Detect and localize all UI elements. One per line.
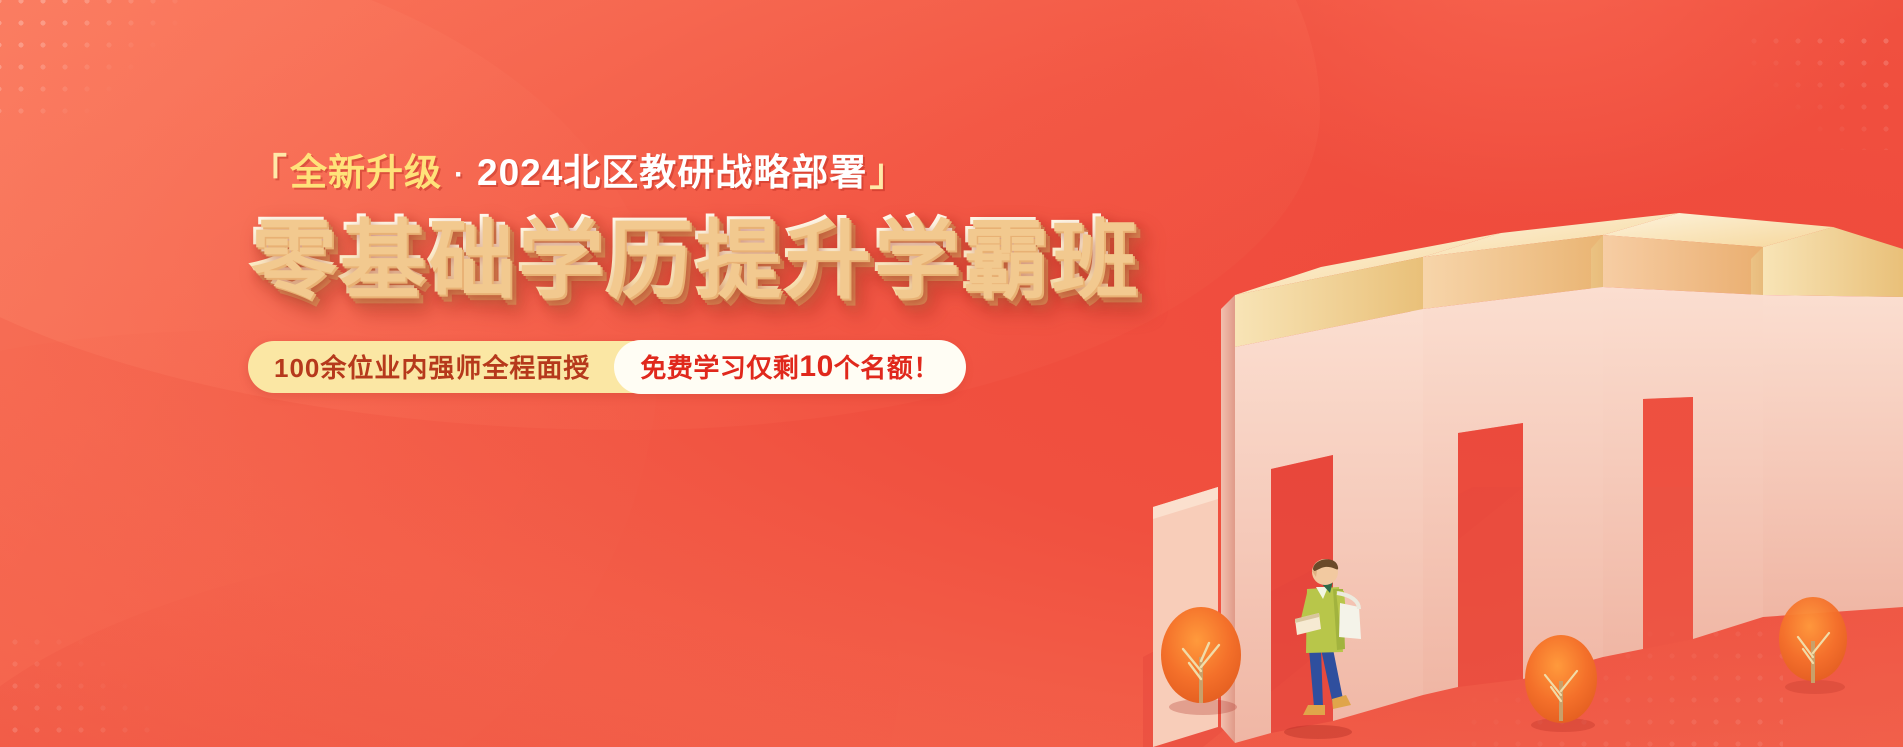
badge-quota-number: 10 — [799, 350, 833, 384]
dot-pattern-top-left — [0, 0, 178, 122]
badge-quota-suffix: 个名额！ — [834, 348, 940, 385]
dot-pattern-top-right — [1743, 30, 1903, 150]
book-archway-illustration — [1003, 187, 1903, 747]
banner-subtitle: 「全新升级·2024北区教研战略部署」 — [248, 150, 1108, 196]
subtitle-highlight: 全新升级 — [290, 152, 442, 193]
banner-copy: 「全新升级·2024北区教研战略部署」 零基础学历提升学霸班 100余位业内强师… — [248, 150, 1108, 393]
subtitle-close-bracket: 」 — [869, 152, 907, 193]
badge-teachers-label: 100余位业内强师全程面授 — [274, 341, 614, 393]
banner-badge-row: 100余位业内强师全程面授 免费学习仅剩10个名额！ — [248, 341, 964, 393]
subtitle-separator: · — [454, 158, 465, 191]
subtitle-open-bracket: 「 — [250, 152, 288, 193]
badge-quota: 免费学习仅剩10个名额！ — [614, 340, 965, 394]
subtitle-rest: 2024北区教研战略部署 — [477, 152, 867, 193]
book-arch-4 — [1751, 227, 1903, 617]
badge-quota-prefix: 免费学习仅剩 — [640, 348, 799, 385]
promo-banner: 「全新升级·2024北区教研战略部署」 零基础学历提升学霸班 100余位业内强师… — [0, 0, 1903, 747]
dot-pattern-bottom-left — [0, 631, 152, 747]
banner-headline: 零基础学历提升学霸班 — [248, 210, 1108, 306]
